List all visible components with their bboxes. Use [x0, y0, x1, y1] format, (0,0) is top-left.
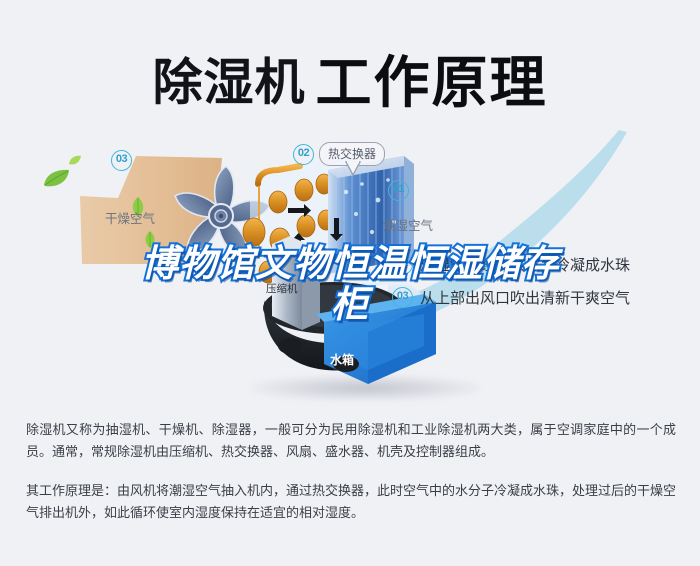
- label-water-tank: 水箱: [330, 351, 354, 368]
- leaf-icon: [143, 230, 157, 254]
- paragraph-principle: 其工作原理是：由风机将潮湿空气抽入机内，通过热交换器，此时空气中的水分子冷凝成水…: [26, 481, 676, 525]
- bubble-tail-icon: [344, 161, 362, 182]
- body-copy: 除湿机又称为抽湿机、干燥机、除湿器，一般可分为民用除湿机和工业除湿机两大类，属于…: [26, 420, 676, 525]
- legend-badge: 03: [392, 287, 413, 308]
- legend-label: 从上部出风口吹出清新干爽空气: [420, 287, 630, 308]
- leaf-icon: [68, 153, 82, 171]
- legend-badge: 02: [392, 254, 413, 275]
- badge-dry-air: 03: [111, 150, 132, 171]
- page-title: 除湿机工作原理: [0, 38, 700, 119]
- title-part-dehumidifier: 除湿机: [153, 54, 306, 112]
- paragraph-definition: 除湿机又称为抽湿机、干燥机、除湿器，一般可分为民用除湿机和工业除湿机两大类，属于…: [26, 420, 676, 464]
- label-compressor: 压缩机: [266, 281, 298, 296]
- title-part-working-principle: 工作原理: [316, 53, 548, 115]
- infographic-page: 除湿机工作原理: [0, 0, 700, 566]
- label-humid-air: 潮湿空气: [383, 215, 433, 234]
- legend-list: 02 潮湿空气经过蒸发器冷凝成水珠 03 从上部出风口吹出清新干爽空气: [392, 248, 692, 314]
- badge-heat-exchanger: 02: [293, 144, 314, 165]
- badge-humid-air: 01: [388, 180, 409, 201]
- legend-item: 02 潮湿空气经过蒸发器冷凝成水珠: [392, 248, 692, 281]
- leaf-icon: [42, 168, 72, 193]
- legend-item: 03 从上部出风口吹出清新干爽空气: [392, 281, 692, 314]
- legend-label: 潮湿空气经过蒸发器冷凝成水珠: [420, 254, 630, 275]
- label-dry-air: 干燥空气: [105, 208, 155, 227]
